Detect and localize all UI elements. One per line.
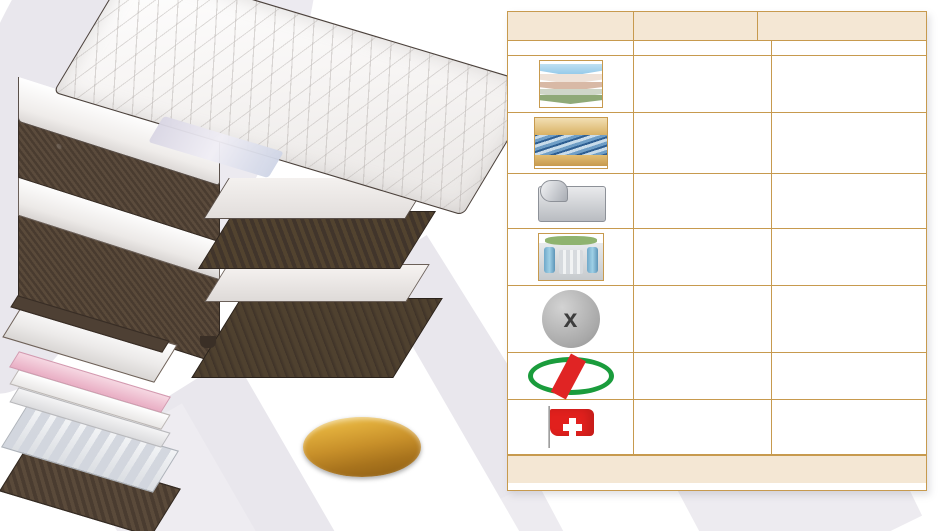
edge-support-top-fabric	[545, 236, 597, 245]
mattress-illustration	[8, 6, 478, 354]
table-row	[508, 56, 926, 113]
table-header-row	[508, 12, 926, 41]
non-turnable-logo-icon	[528, 357, 614, 395]
row-icon-cell	[508, 41, 634, 55]
warranty-badge	[303, 417, 421, 477]
table-row	[508, 353, 926, 400]
table-row	[508, 113, 926, 174]
row-benefit-cell	[772, 400, 926, 454]
flag-cross-horizontal	[563, 424, 582, 431]
base-trim-right	[204, 264, 430, 302]
swiss-flag-icon	[539, 404, 603, 450]
row-feature-cell	[634, 229, 772, 285]
edge-support-post	[587, 247, 598, 273]
table-header-icon-cell	[508, 12, 634, 40]
row-benefit-cell	[772, 229, 926, 285]
recon-brand-bar	[535, 118, 607, 135]
row-icon-cell: x	[508, 286, 634, 352]
row-feature-cell	[634, 41, 772, 55]
row-benefit-cell	[772, 56, 926, 112]
reconstituted-foam-logo-icon	[534, 117, 608, 169]
table-row: x	[508, 286, 926, 353]
table-row	[508, 41, 926, 56]
row-feature-cell	[634, 400, 772, 454]
box-top-layer	[539, 95, 603, 104]
edge-support-post	[544, 247, 555, 273]
row-icon-cell	[508, 400, 634, 454]
recon-caption-bar	[535, 155, 607, 166]
row-feature-cell	[634, 286, 772, 352]
row-feature-cell	[634, 113, 772, 173]
layer-foam-block-icon	[534, 178, 608, 224]
row-benefit-cell	[772, 41, 926, 55]
flag-cloth	[550, 409, 594, 436]
recommended-weight-footer	[508, 455, 926, 483]
row-feature-cell	[634, 56, 772, 112]
row-benefit-cell	[772, 174, 926, 228]
row-feature-cell	[634, 353, 772, 399]
edge-support-springs	[559, 250, 583, 274]
feature-benefit-table: x	[507, 11, 927, 491]
row-feature-cell	[634, 174, 772, 228]
mattress-cutaway-image	[4, 312, 204, 520]
row-icon-cell	[508, 56, 634, 112]
row-icon-cell	[508, 229, 634, 285]
bonnell-spring-logo-icon: x	[542, 290, 600, 348]
recon-foam-texture	[535, 135, 607, 155]
row-icon-cell	[508, 353, 634, 399]
edge-support-icon	[538, 233, 604, 281]
row-icon-cell	[508, 174, 634, 228]
table-row	[508, 174, 926, 229]
table-row	[508, 400, 926, 455]
poster-canvas: x	[0, 0, 940, 531]
mattress-product-image	[8, 6, 478, 354]
row-icon-cell	[508, 113, 634, 173]
box-top-layers-icon	[539, 60, 603, 108]
bonnell-arc-text-svg	[542, 290, 600, 348]
table-header-benefit	[758, 12, 926, 40]
foam-curl-shape	[540, 180, 568, 202]
table-header-feature	[634, 12, 758, 40]
row-benefit-cell	[772, 286, 926, 352]
mattress-right-side	[198, 211, 436, 269]
row-benefit-cell	[772, 353, 926, 399]
table-row	[508, 229, 926, 286]
row-benefit-cell	[772, 113, 926, 173]
